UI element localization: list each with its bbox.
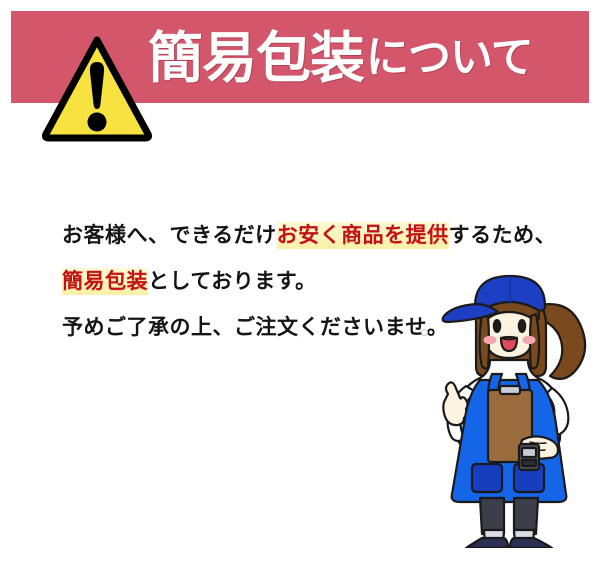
page-title: 簡易包装 について [148, 24, 533, 92]
notice-line-2-highlight: 簡易包装 [62, 268, 148, 295]
notice-line-1: お客様へ、できるだけお安く商品を提供するため、 [62, 212, 562, 258]
notice-line-1-highlight: お安く商品を提供 [277, 222, 449, 249]
notice-line-3-text: 予めご了承の上、ご注文くださいませ。 [62, 315, 448, 339]
page-title-sub: について [366, 37, 533, 80]
staff-woman-illustration [418, 262, 600, 548]
notice-line-1-pre: お客様へ、できるだけ [62, 223, 277, 247]
notice-line-2-post: としております。 [148, 269, 317, 293]
notice-line-1-post: するため、 [449, 223, 557, 247]
page-title-main: 簡易包装 [148, 31, 364, 86]
warning-triangle-icon [42, 34, 152, 142]
